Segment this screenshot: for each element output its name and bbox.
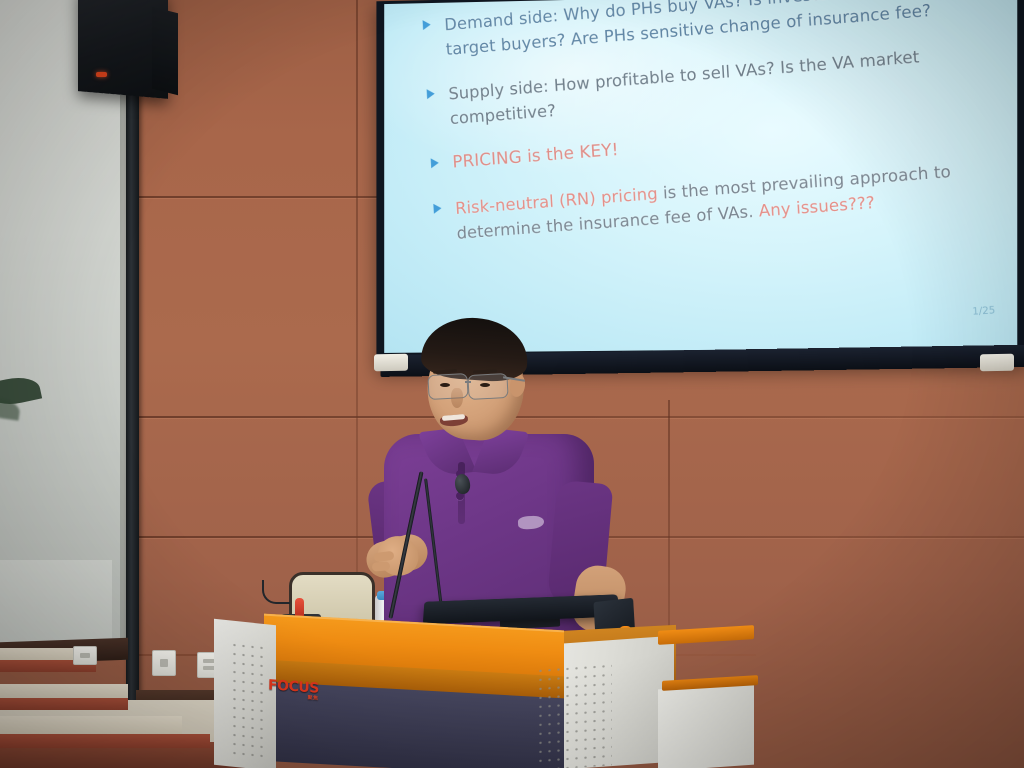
speaker-power-led — [96, 72, 107, 77]
podium-brand-logo: FOCUS 聚焦 — [268, 678, 319, 702]
podium-body-far-right — [658, 683, 754, 768]
podium-speaker-grille-left — [230, 640, 266, 762]
podium-speaker-grille-right — [536, 661, 612, 768]
wall-conduit-pole — [126, 0, 139, 700]
speaker-person — [370, 330, 630, 630]
speaker-eye — [440, 383, 450, 387]
lecture-hall-photo: Demand side: Why do PHs buy VAs? Is inve… — [0, 0, 1024, 768]
wall-socket[interactable] — [73, 646, 97, 665]
slide-page-indicator: 1/25 — [972, 305, 995, 318]
projected-slide: Demand side: Why do PHs buy VAs? Is inve… — [384, 0, 1017, 353]
bullet-triangle-icon — [431, 158, 439, 168]
lectern-podium: FOCUS 聚焦 — [206, 600, 746, 768]
stair-riser — [0, 698, 128, 710]
screen-end-cap-right — [980, 354, 1014, 372]
speaker-nose — [451, 388, 463, 408]
wall-socket[interactable] — [152, 650, 176, 676]
bullet-triangle-icon — [423, 20, 431, 31]
projection-screen-frame: Demand side: Why do PHs buy VAs? Is inve… — [376, 0, 1024, 369]
speaker-finger — [372, 561, 391, 571]
slide-bullet-text: PRICING is the KEY! — [452, 140, 619, 173]
stair-riser — [0, 734, 210, 748]
slide-content: Demand side: Why do PHs buy VAs? Is inve… — [418, 0, 1012, 268]
podium-brand-name: FOCUS — [268, 678, 319, 696]
bullet-triangle-icon — [427, 89, 435, 99]
slide-bullet-text: Supply side: How profitable to sell VAs?… — [448, 47, 920, 128]
speaker-eye — [480, 383, 490, 387]
ceiling-loudspeaker-side — [152, 7, 178, 95]
slide-text-any-issues: Any issues??? — [758, 193, 875, 221]
bullet-triangle-icon — [433, 203, 441, 213]
eyeglasses-bridge — [465, 381, 471, 383]
